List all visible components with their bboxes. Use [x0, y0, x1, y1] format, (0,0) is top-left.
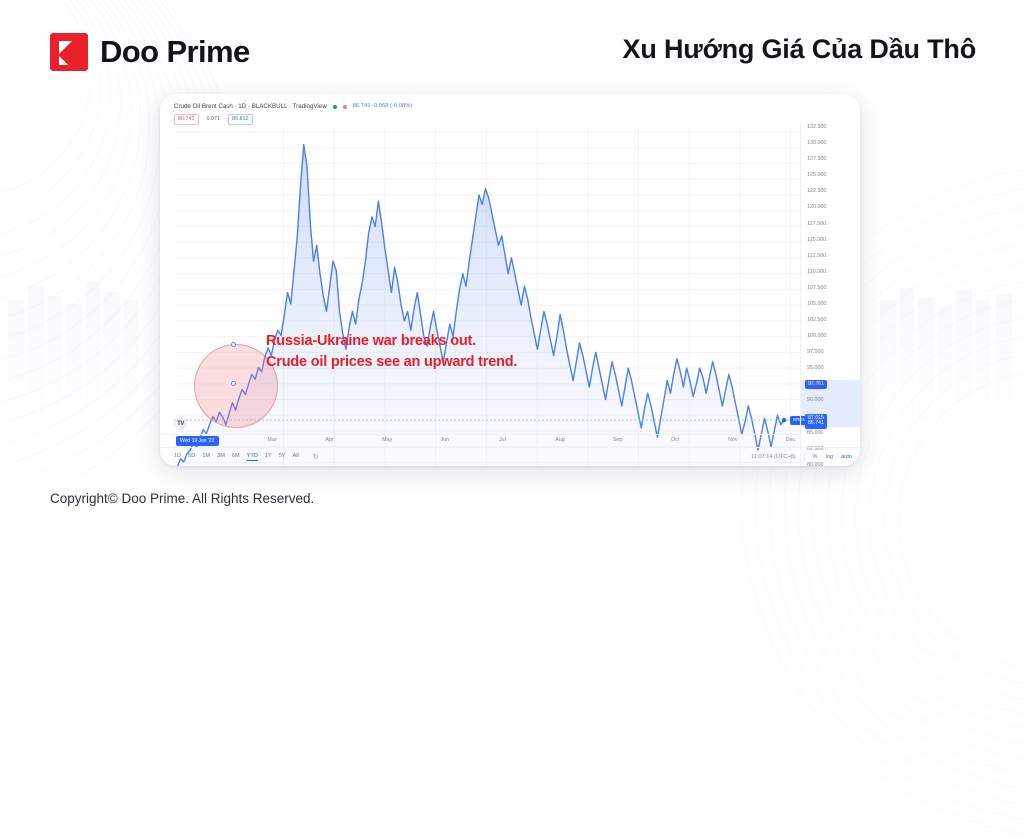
ohlc-high: 86.812	[228, 114, 253, 124]
range-button-1y[interactable]: 1Y	[265, 453, 272, 461]
price-tick: 130.000	[807, 141, 827, 146]
price-tick: 85.000	[807, 431, 824, 436]
toolbar-divider	[804, 453, 805, 461]
toolbar-right-group: 11:07:14 (UTC+8) % log auto	[751, 453, 852, 461]
time-tick: Sep	[613, 438, 623, 443]
chart-toolbar: 1D5D1M3M6MYTD1Y5YAll ↻ 11:07:14 (UTC+8) …	[160, 447, 860, 466]
price-tick: 120.000	[807, 205, 827, 210]
copyright-text: Copyright© Doo Prime. All Rights Reserve…	[50, 491, 314, 506]
status-dot-pink-icon	[343, 105, 347, 109]
chart-ohlc-row: 86.741 0.071 86.812	[174, 114, 860, 124]
price-tick: 122.500	[807, 189, 827, 194]
range-button-1m[interactable]: 1M	[202, 453, 210, 461]
brand-name: Doo Prime	[100, 34, 250, 70]
time-tick: May	[382, 438, 392, 443]
time-axis[interactable]: Wed 19 Jan '22 MarAprMayJunJulAugSepOctN…	[160, 434, 800, 447]
range-button-1d[interactable]: 1D	[174, 453, 181, 461]
chart-symbol-header: Crude Oil Brent Cash · 1D · BLACKBULL · …	[174, 104, 860, 110]
range-button-3m[interactable]: 3M	[217, 453, 225, 461]
time-tick: Jun	[440, 438, 449, 443]
time-tick: Dec	[786, 438, 796, 443]
auto-scale-button[interactable]: auto	[841, 454, 852, 460]
price-tick: 132.500	[807, 125, 827, 130]
chart-quote: 86.741 -0.068 (-0.08%)	[353, 104, 413, 110]
annotation-line-1: Russia-Ukraine war breaks out.	[266, 331, 517, 352]
clock-label: 11:07:14 (UTC+8)	[751, 454, 796, 460]
price-tick: 115.000	[807, 238, 826, 243]
chart-card: Crude Oil Brent Cash · 1D · BLACKBULL · …	[160, 94, 860, 466]
annotation-handle-center[interactable]	[231, 381, 236, 386]
time-tick: Mar	[267, 438, 276, 443]
annotation-line-2: Crude oil prices see an upward trend.	[266, 352, 517, 373]
last-price-dot-icon	[782, 418, 786, 422]
price-badge-last: 86.741	[805, 419, 827, 428]
ohlc-change: 0.071	[204, 115, 224, 123]
price-tick: 100.000	[807, 334, 827, 339]
range-selector: 1D5D1M3M6MYTD1Y5YAll	[174, 453, 299, 462]
price-tick: 117.500	[807, 222, 826, 227]
time-tick: Aug	[555, 438, 565, 443]
price-tick: 87.500	[807, 415, 824, 420]
status-dot-green-icon	[333, 105, 337, 109]
price-tick: 102.500	[807, 318, 827, 323]
time-tick: Jul	[499, 438, 506, 443]
annotation-handle-top[interactable]	[231, 342, 236, 347]
range-button-all[interactable]: All	[293, 453, 299, 461]
chart-svg	[174, 128, 800, 466]
percent-scale-button[interactable]: %	[813, 454, 818, 460]
ohlc-low: 86.741	[174, 114, 199, 124]
page-title: Xu Hướng Giá Của Dầu Thô	[623, 34, 976, 65]
price-tick: 105.000	[807, 302, 827, 307]
price-tick: 110.000	[807, 270, 826, 275]
range-button-ytd[interactable]: YTD	[247, 453, 258, 462]
time-tick: Apr	[325, 438, 333, 443]
time-tick: Nov	[728, 438, 738, 443]
annotation-text: Russia-Ukraine war breaks out. Crude oil…	[266, 331, 517, 373]
price-axis[interactable]: 92.761 87.015 86.741 132.500130.000127.5…	[800, 124, 860, 466]
doo-prime-logo-icon	[50, 33, 88, 71]
chart-inner: Crude Oil Brent Cash · 1D · BLACKBULL · …	[160, 94, 860, 466]
chart-symbol-label: Crude Oil Brent Cash · 1D · BLACKBULL · …	[174, 104, 327, 110]
time-tick: Oct	[671, 438, 679, 443]
price-tick: 95.000	[807, 366, 824, 371]
range-button-6m[interactable]: 6M	[232, 453, 240, 461]
price-tick: 107.500	[807, 286, 827, 291]
tradingview-logo-icon: TV	[174, 417, 187, 430]
price-tick: 97.500	[807, 350, 824, 355]
chart-plot-area[interactable]: BRENT	[174, 128, 800, 466]
page-header: Doo Prime Xu Hướng Giá Của Dầu Thô	[0, 0, 1024, 100]
price-tick: 112.500	[807, 254, 826, 259]
refresh-icon[interactable]: ↻	[313, 453, 319, 461]
price-tick: 92.500	[807, 382, 824, 387]
range-button-5y[interactable]: 5Y	[279, 453, 286, 461]
price-tick: 90.000	[807, 398, 824, 403]
log-scale-button[interactable]: log	[826, 454, 833, 460]
brand-logo: Doo Prime	[50, 33, 250, 71]
price-tick: 125.000	[807, 173, 827, 178]
range-button-5d[interactable]: 5D	[188, 453, 195, 461]
price-tick: 127.500	[807, 157, 827, 162]
date-badge: Wed 19 Jan '22	[176, 436, 219, 446]
